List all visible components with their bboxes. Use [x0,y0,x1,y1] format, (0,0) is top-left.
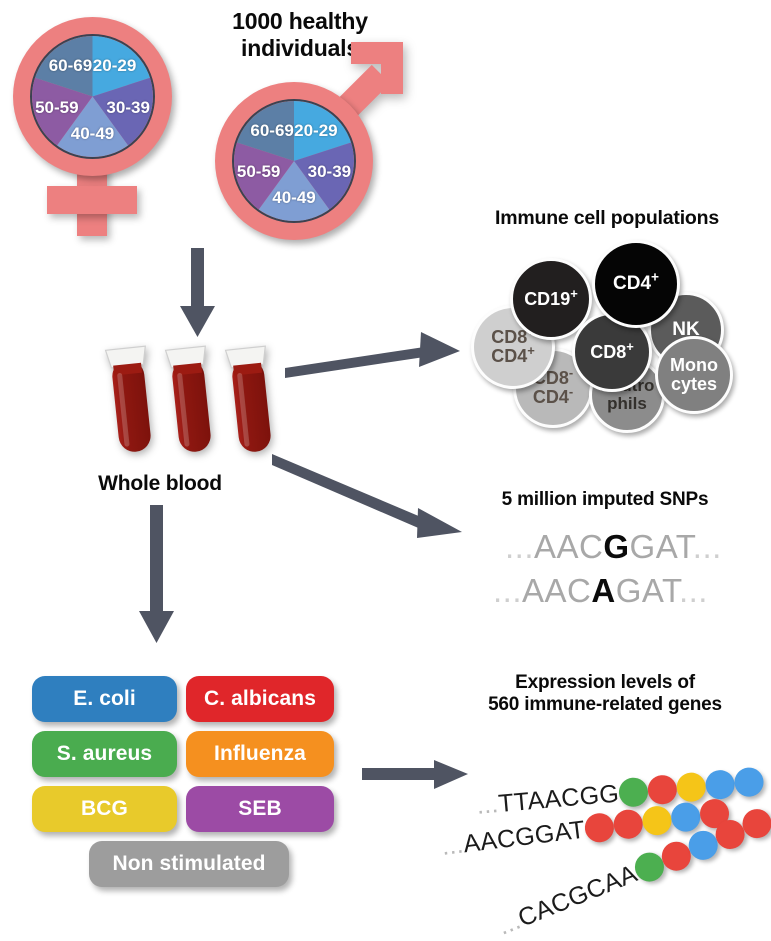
expression-dot [676,771,707,802]
expression-dot [647,774,678,805]
expression-dot [733,766,764,797]
expression-sequence-text: ...CACGCAA [494,859,642,941]
expression-dot [641,805,673,837]
expression-sequence-text: ...AACGGAT [440,815,587,861]
figure-canvas: 1000 healthy individuals 20-2930-3940-49… [0,0,771,922]
expression-strands: ...TTAACGG...AACGGAT...CACGCAA [0,0,771,922]
expression-dot [670,801,702,833]
expression-dot [612,808,644,840]
expression-dot [618,777,649,808]
expression-dot [583,812,615,844]
expression-dot [704,769,735,800]
